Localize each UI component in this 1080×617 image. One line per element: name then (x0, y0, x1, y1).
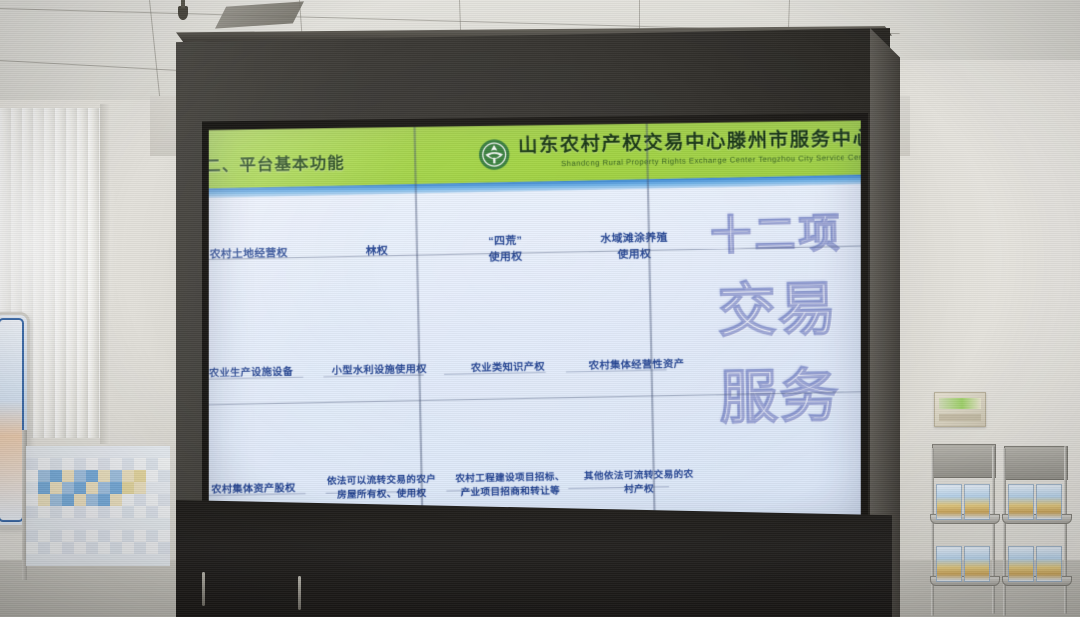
brochure[interactable] (1008, 546, 1034, 582)
mosaic-block (122, 494, 134, 506)
mosaic-block (134, 494, 146, 506)
mosaic-block (50, 542, 62, 554)
mosaic-block (146, 446, 158, 458)
mosaic-block (146, 518, 158, 530)
mosaic-block (74, 482, 86, 494)
mosaic-block (86, 518, 98, 530)
mosaic-block (146, 530, 158, 542)
service-cell-label: “四荒”使用权 (488, 234, 523, 266)
cabinet-handle[interactable] (298, 576, 301, 610)
mosaic-block (74, 446, 86, 458)
service-cell: 农业类知识产权 (442, 308, 573, 428)
mosaic-block (98, 446, 110, 458)
mosaic-block (74, 554, 86, 566)
mosaic-block (38, 482, 50, 494)
mosaic-block (146, 458, 158, 470)
mosaic-block (50, 482, 62, 494)
service-cell: 农村土地经营权 (209, 196, 314, 316)
mosaic-block (50, 530, 62, 542)
mosaic-block (62, 470, 74, 482)
mosaic-block (134, 554, 146, 566)
service-cell: 农村集体经营性资产 (571, 305, 702, 425)
rack-back-panel (1004, 446, 1068, 480)
mosaic-block (38, 530, 50, 542)
mosaic-block (134, 482, 146, 494)
service-cell-label: 水域滩涂养殖使用权 (600, 231, 668, 264)
mosaic-block (86, 506, 98, 518)
mosaic-block (74, 530, 86, 542)
mosaic-block (122, 446, 134, 458)
service-cell: 水域滩涂养殖使用权 (569, 188, 700, 308)
mosaic-block (50, 518, 62, 530)
brochure[interactable] (964, 484, 990, 520)
mosaic-block (62, 458, 74, 470)
mosaic-block (26, 482, 38, 494)
mosaic-block (62, 542, 74, 554)
mosaic-block (146, 482, 158, 494)
video-wall-screen[interactable]: 二、平台基本功能 山东农村产权交易中心滕州市服务中心 Shando (209, 121, 861, 530)
mosaic-block (50, 506, 62, 518)
mosaic-block (146, 506, 158, 518)
mosaic-block (158, 458, 170, 470)
brochure[interactable] (1036, 546, 1062, 582)
mosaic-block (98, 470, 110, 482)
brochure[interactable] (1008, 484, 1034, 520)
mosaic-block (158, 446, 170, 458)
rack-rail (1003, 448, 1006, 616)
mosaic-block (38, 446, 50, 458)
mosaic-block (74, 518, 86, 530)
mosaic-block (146, 494, 158, 506)
mosaic-block (26, 554, 38, 566)
mosaic-block (26, 446, 38, 458)
mosaic-block (86, 494, 98, 506)
mosaic-block (86, 470, 98, 482)
service-cell-label: 林权 (366, 245, 389, 261)
mosaic-block (134, 458, 146, 470)
mosaic-block (98, 554, 110, 566)
mosaic-block (62, 518, 74, 530)
service-cell-label: 农村土地经营权 (209, 247, 288, 264)
mosaic-block (62, 506, 74, 518)
mosaic-block (26, 530, 38, 542)
mosaic-block (122, 554, 134, 566)
mosaic-block (98, 518, 110, 530)
mosaic-block (50, 554, 62, 566)
mosaic-block (110, 542, 122, 554)
brochure[interactable] (1036, 484, 1062, 520)
mosaic-block (134, 470, 146, 482)
mosaic-block (62, 446, 74, 458)
wall-plaque (934, 392, 986, 427)
mosaic-block (38, 494, 50, 506)
mosaic-block (146, 554, 158, 566)
mosaic-block (110, 482, 122, 494)
service-cell: “四荒”使用权 (440, 190, 571, 310)
mosaic-block (62, 554, 74, 566)
mosaic-block (110, 518, 122, 530)
rack-rail (992, 446, 995, 614)
mosaic-block (122, 518, 134, 530)
grid-spacer (698, 184, 861, 305)
mosaic-block (98, 458, 110, 470)
slide-section-title: 二、平台基本功能 (209, 150, 345, 176)
mosaic-block (50, 470, 62, 482)
mosaic-block (26, 518, 38, 530)
mosaic-block (98, 482, 110, 494)
blurred-region (26, 446, 174, 564)
brochure-rack (928, 440, 1080, 617)
mosaic-block (62, 530, 74, 542)
mosaic-block (86, 482, 98, 494)
mosaic-block (158, 482, 170, 494)
mosaic-block (98, 542, 110, 554)
mosaic-block (86, 542, 98, 554)
mosaic-block (122, 506, 134, 518)
mosaic-block (74, 506, 86, 518)
mosaic-block (26, 470, 38, 482)
mosaic-block (50, 446, 62, 458)
grid-spacer (700, 302, 861, 423)
mosaic-block (110, 470, 122, 482)
rack-rail (1064, 446, 1067, 614)
mosaic-block (62, 482, 74, 494)
mosaic-block (122, 470, 134, 482)
sprinkler-head (178, 6, 188, 20)
mosaic-block (122, 542, 134, 554)
mosaic-block (134, 542, 146, 554)
service-cell-label: 其他依法可流转交易的农村产权 (582, 467, 696, 498)
ceiling-light (215, 1, 304, 28)
display-base-cabinet (176, 500, 892, 617)
window-frame (100, 104, 110, 444)
room-photo-scene: 二、平台基本功能 山东农村产权交易中心滕州市服务中心 Shando (0, 0, 1080, 617)
mosaic-block (158, 542, 170, 554)
service-cell: 农业生产设施设备 (209, 313, 317, 433)
slide-body: 十二项 交易 服务 农村土地经营权林权“四荒”使用权水域滩涂养殖使用权农业生产设… (209, 184, 861, 530)
mosaic-block (110, 446, 122, 458)
service-cell: 林权 (312, 193, 443, 313)
service-cell: 小型水利设施使用权 (314, 310, 445, 430)
mosaic-block (146, 542, 158, 554)
brochure[interactable] (964, 546, 990, 582)
mosaic-block (26, 494, 38, 506)
rack-rail (931, 448, 934, 616)
mosaic-block (122, 458, 134, 470)
service-grid: 农村土地经营权林权“四荒”使用权水域滩涂养殖使用权农业生产设施设备小型水利设施使… (209, 184, 861, 530)
mosaic-block (110, 554, 122, 566)
mosaic-block (50, 458, 62, 470)
mosaic-block (134, 506, 146, 518)
mosaic-block (86, 458, 98, 470)
mosaic-block (38, 470, 50, 482)
mosaic-block (110, 458, 122, 470)
mosaic-block (122, 530, 134, 542)
mosaic-block (110, 494, 122, 506)
mosaic-block (74, 470, 86, 482)
mosaic-block (26, 506, 38, 518)
organization-block: 山东农村产权交易中心滕州市服务中心 Shandong Rural Propert… (518, 123, 861, 169)
mosaic-block (158, 554, 170, 566)
mosaic-block (86, 554, 98, 566)
mosaic-block (38, 554, 50, 566)
mosaic-block (122, 482, 134, 494)
mosaic-block (158, 530, 170, 542)
rack-back-panel (932, 444, 996, 478)
mosaic-block (38, 506, 50, 518)
mosaic-block (26, 542, 38, 554)
mosaic-block (98, 506, 110, 518)
mosaic-block (74, 542, 86, 554)
mosaic-block (74, 458, 86, 470)
mosaic-block (26, 458, 38, 470)
mosaic-block (38, 458, 50, 470)
brochure[interactable] (936, 546, 962, 582)
mosaic-block (86, 446, 98, 458)
mosaic-block (134, 446, 146, 458)
mosaic-block (98, 530, 110, 542)
mosaic-block (134, 530, 146, 542)
mosaic-block (38, 542, 50, 554)
mosaic-block (62, 494, 74, 506)
mosaic-block (38, 518, 50, 530)
mosaic-block (158, 470, 170, 482)
mosaic-block (134, 518, 146, 530)
mosaic-block (74, 494, 86, 506)
mosaic-block (158, 518, 170, 530)
mosaic-block (86, 530, 98, 542)
mosaic-block (146, 470, 158, 482)
brochure[interactable] (936, 484, 962, 520)
mosaic-block (110, 530, 122, 542)
mosaic-block (110, 506, 122, 518)
cabinet-handle[interactable] (202, 572, 205, 606)
service-cell-label: 农村工程建设项目招标、产业项目招商和转让等 (453, 470, 567, 501)
mosaic-block (98, 494, 110, 506)
poster-stand-panel (0, 318, 24, 522)
exchange-center-emblem (477, 138, 510, 171)
mosaic-block (158, 494, 170, 506)
mosaic-block (158, 506, 170, 518)
mosaic-block (50, 494, 62, 506)
